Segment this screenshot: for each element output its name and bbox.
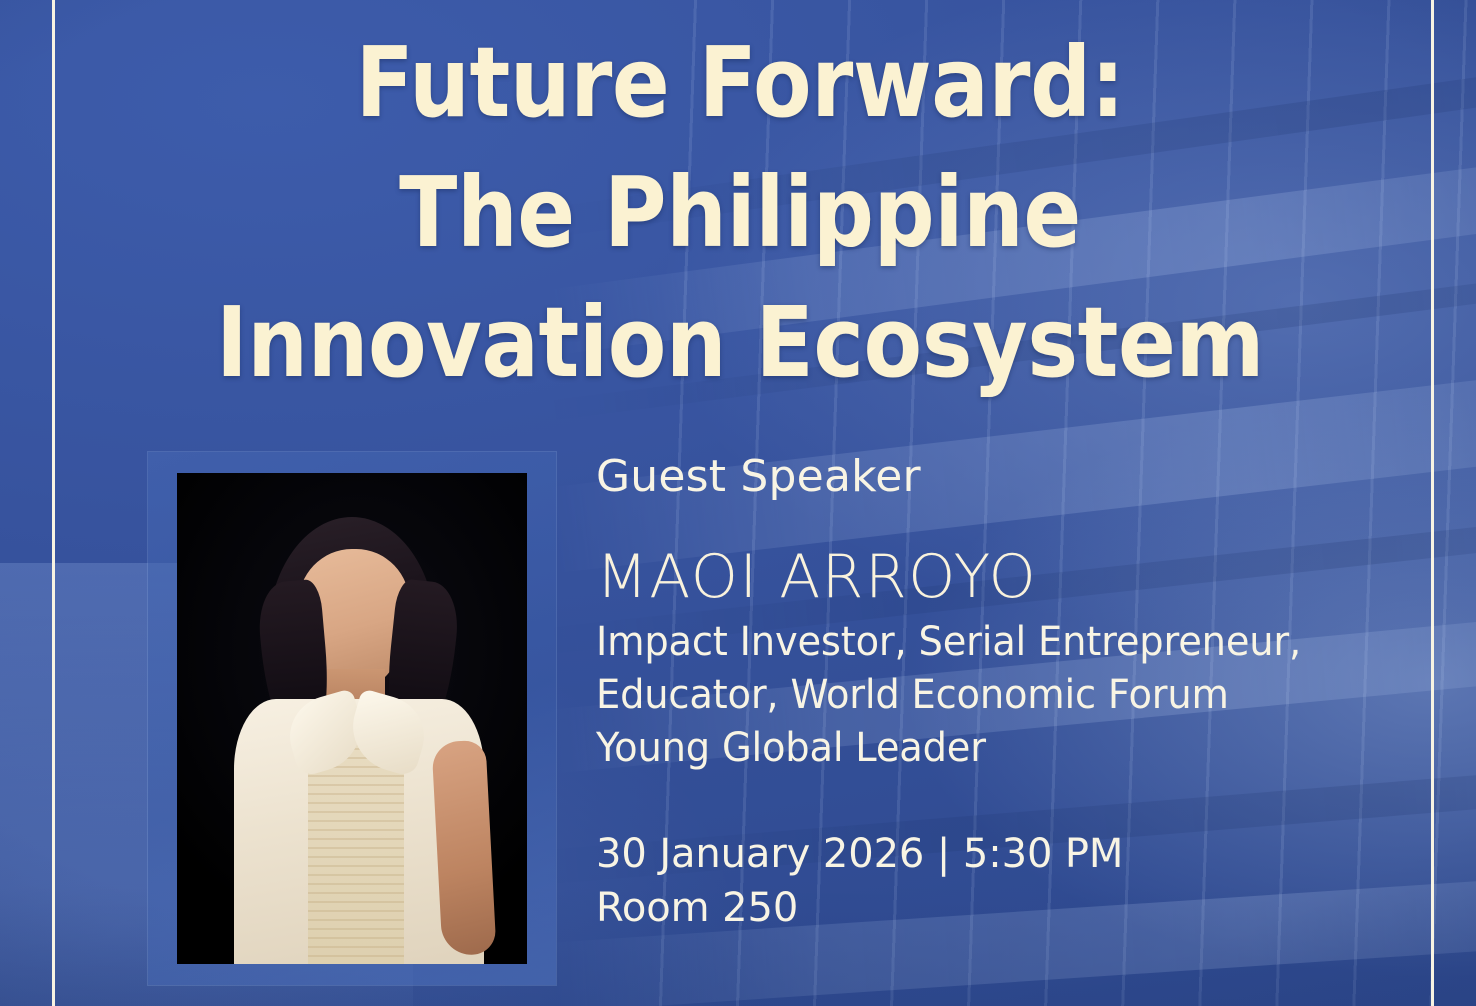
speaker-bio: Impact Investor, Serial Entrepreneur, Ed… <box>596 616 1374 775</box>
event-poster: Future Forward: The Philippine Innovatio… <box>0 0 1476 1006</box>
bio-line-2: Educator, World Economic Forum <box>596 669 1374 722</box>
right-border-rule <box>1431 0 1434 1006</box>
title-line-1: Future Forward: <box>142 18 1339 148</box>
event-venue: Room 250 <box>596 881 1406 935</box>
bio-line-1: Impact Investor, Serial Entrepreneur, <box>596 616 1374 669</box>
speaker-info-block: Guest Speaker MAOI ARROYO Impact Investo… <box>596 448 1406 935</box>
title-line-2: The Philippine <box>142 148 1339 278</box>
portrait-embroidery <box>308 739 404 964</box>
speaker-portrait-image <box>177 473 527 964</box>
speaker-photo <box>177 473 527 964</box>
bio-line-3: Young Global Leader <box>596 722 1374 775</box>
portrait-arm <box>431 740 496 957</box>
title-line-3: Innovation Ecosystem <box>142 278 1339 408</box>
event-datetime: 30 January 2026 | 5:30 PM <box>596 827 1406 881</box>
speaker-photo-frame <box>148 452 556 985</box>
guest-speaker-label: Guest Speaker <box>596 448 1406 506</box>
event-details: 30 January 2026 | 5:30 PM Room 250 <box>596 827 1406 935</box>
poster-title: Future Forward: The Philippine Innovatio… <box>142 18 1339 408</box>
left-border-rule <box>52 0 55 1006</box>
speaker-name: MAOI ARROYO <box>596 544 1406 610</box>
